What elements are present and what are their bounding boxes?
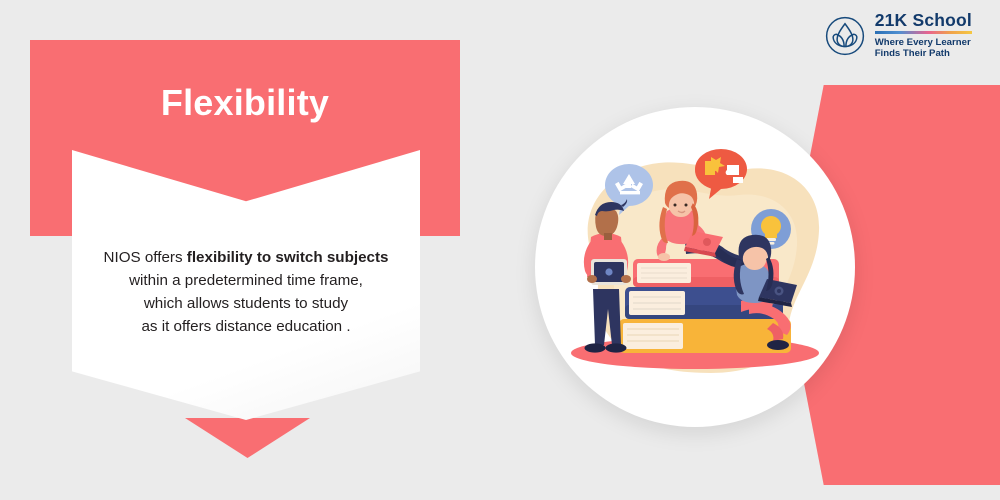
bottom-book — [619, 319, 791, 353]
logo-gradient-rule — [875, 31, 972, 34]
card-body-text: NIOS offers flexibility to switch subjec… — [72, 246, 420, 338]
body-line-1: NIOS offers flexibility to switch subjec… — [104, 249, 389, 266]
body-emphasis: flexibility to switch subjects — [187, 249, 389, 266]
logo-tagline-line1: Where Every Learner — [875, 37, 972, 49]
body-line-4: as it offers distance education . — [141, 318, 350, 335]
lotus-circle-icon — [824, 15, 866, 57]
logo-text-block: 21K School Where Every Learner Finds The… — [875, 12, 972, 60]
illustration-circle — [535, 107, 855, 427]
logo-tagline-line2: Finds Their Path — [875, 48, 972, 60]
page-title: Flexibility — [30, 82, 460, 124]
poster-canvas: Flexibility NIOS offers flexibility to s… — [0, 0, 1000, 500]
brand-logo[interactable]: 21K School Where Every Learner Finds The… — [824, 12, 972, 60]
body-line-3: which allows students to study — [144, 295, 348, 312]
logo-name: 21K School — [875, 12, 972, 30]
body-line-2: within a predetermined time frame, — [129, 272, 363, 289]
bottom-accent-triangle — [185, 418, 310, 458]
